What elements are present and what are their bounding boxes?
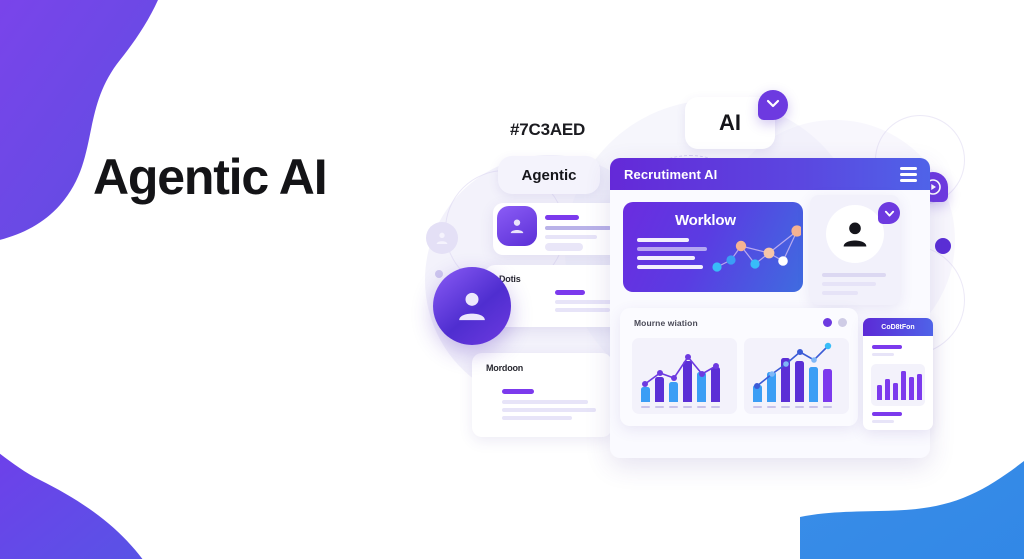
blob-top-left xyxy=(0,0,240,260)
graph-node xyxy=(726,255,735,264)
chart-bar xyxy=(909,377,914,400)
accent-dot xyxy=(435,270,443,278)
mordoon-card-label: Mordoon xyxy=(486,363,523,373)
card-pill xyxy=(545,243,583,251)
card-line xyxy=(872,412,902,416)
metrics-card-title: Mourne wiation xyxy=(634,318,698,328)
profile-avatar xyxy=(826,205,884,263)
graph-node xyxy=(712,262,721,271)
codetfon-card-header: CoD8tFon xyxy=(863,318,933,336)
chart-bar xyxy=(901,371,906,400)
user-icon xyxy=(507,216,527,236)
card-line xyxy=(637,256,695,260)
chart-trend-line xyxy=(744,338,849,414)
card-line xyxy=(555,300,617,304)
card-line xyxy=(502,400,588,404)
hex-swatch-label: #7C3AED xyxy=(510,120,585,140)
workflow-network-graph xyxy=(711,220,801,282)
graph-node xyxy=(736,241,746,251)
card-line xyxy=(872,420,894,423)
card-line xyxy=(872,353,894,356)
metrics-card[interactable]: Mourne wiation xyxy=(620,308,858,426)
user-icon xyxy=(838,217,872,251)
card-line xyxy=(822,291,858,295)
card-line xyxy=(555,290,585,295)
metrics-chart-right xyxy=(744,338,849,414)
chart-bar xyxy=(877,385,882,400)
agentic-chip[interactable]: Agentic xyxy=(498,156,600,194)
agentic-chip-label: Agentic xyxy=(521,167,576,184)
chart-bar xyxy=(893,383,898,400)
card-line xyxy=(822,282,876,286)
chevron-down-icon xyxy=(884,208,895,219)
card-line xyxy=(822,273,886,277)
graph-node xyxy=(764,248,775,259)
graph-node xyxy=(750,259,759,268)
card-line xyxy=(637,247,707,251)
codetfon-chart xyxy=(871,364,925,406)
square-avatar[interactable] xyxy=(497,206,537,246)
hero-illustration: #7C3AED Agentic AI xyxy=(415,60,995,500)
user-icon xyxy=(452,286,492,326)
ai-chip-label: AI xyxy=(719,110,741,136)
verified-badge[interactable] xyxy=(878,202,900,224)
mordoon-card[interactable]: Mordoon xyxy=(472,353,612,437)
card-line xyxy=(637,238,689,242)
primary-avatar[interactable] xyxy=(433,267,511,345)
blob-bottom-left xyxy=(0,385,260,559)
message-icon xyxy=(766,98,780,112)
codetfon-card-title: CoD8tFon xyxy=(881,324,914,331)
user-icon xyxy=(434,230,450,246)
card-line xyxy=(502,389,534,394)
workflow-card[interactable]: Worklow xyxy=(623,202,803,292)
graph-node xyxy=(778,256,788,266)
chart-trend-line xyxy=(632,338,737,414)
card-line xyxy=(637,265,703,269)
chart-bar xyxy=(885,379,890,400)
hamburger-icon[interactable] xyxy=(900,167,917,185)
recruitment-panel-title: Recrutiment AI xyxy=(624,167,717,182)
chart-bar xyxy=(917,374,922,400)
card-line xyxy=(545,226,611,230)
ghost-avatar xyxy=(426,222,458,254)
accent-dot xyxy=(935,238,951,254)
card-line xyxy=(502,408,596,412)
card-line xyxy=(545,215,579,220)
card-line xyxy=(545,235,597,239)
card-line xyxy=(555,308,610,312)
indicator-dot-inactive[interactable] xyxy=(838,318,847,327)
card-line xyxy=(502,416,572,420)
page-title: Agentic AI xyxy=(93,148,326,206)
codetfon-card[interactable]: CoD8tFon xyxy=(863,318,933,430)
hero-banner: Agentic AI #7C3AED Agentic AI xyxy=(0,0,1024,559)
message-badge[interactable] xyxy=(758,90,788,120)
recruitment-panel-header[interactable]: Recrutiment AI xyxy=(610,158,930,190)
card-line xyxy=(872,345,902,349)
metrics-chart-left xyxy=(632,338,737,414)
indicator-dot-active[interactable] xyxy=(823,318,832,327)
